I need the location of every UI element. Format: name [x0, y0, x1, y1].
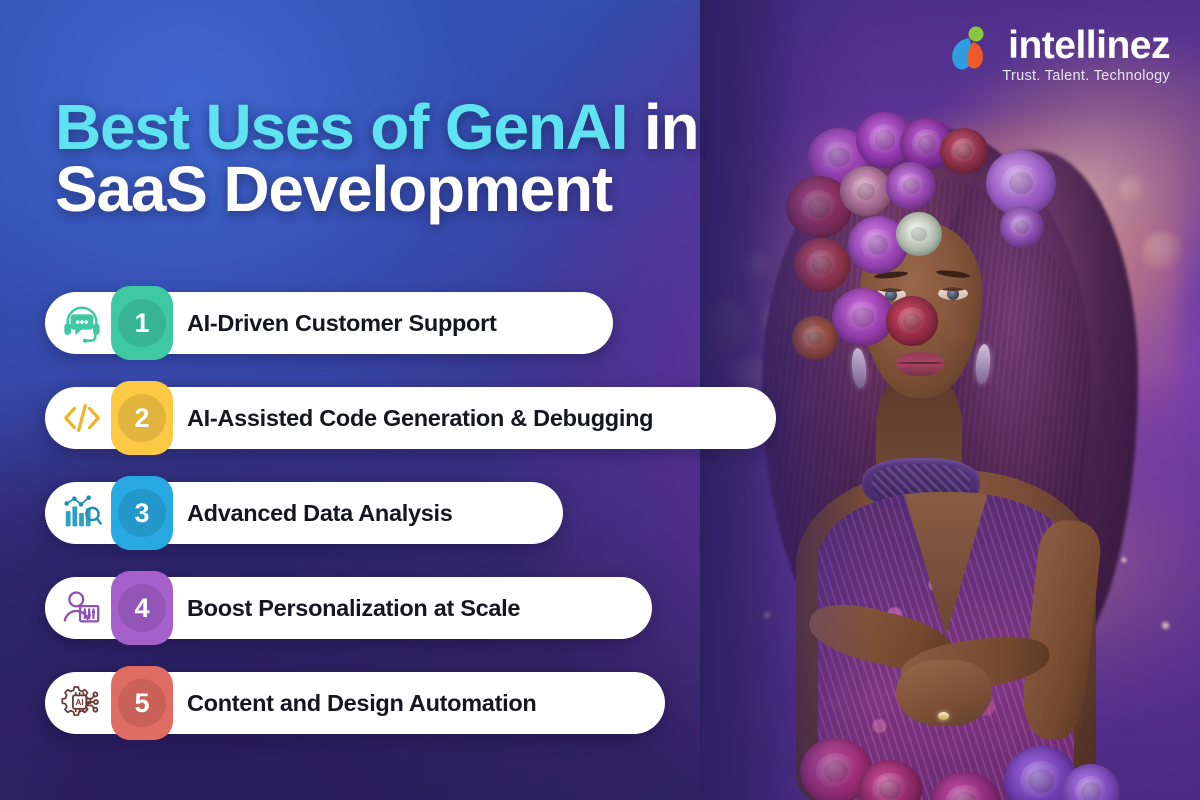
list-item-pill[interactable]: 3 Advanced Data Analysis	[45, 482, 563, 544]
list-item-number: 4	[134, 595, 149, 622]
list-item-number: 5	[134, 690, 149, 717]
rose-white	[896, 212, 942, 256]
light-spark	[1160, 620, 1171, 631]
list-item-number: 1	[134, 310, 149, 337]
rose	[1000, 206, 1044, 248]
bokeh-circle	[1142, 232, 1182, 272]
title-line-1: Best Uses of GenAI in	[55, 96, 698, 158]
eye	[938, 287, 968, 300]
rose	[930, 772, 1000, 800]
code-brackets-icon	[45, 387, 109, 449]
benefits-list: 1 AI-Driven Customer Support	[45, 292, 776, 734]
list-item-label: Content and Design Automation	[187, 690, 536, 717]
brand-logo[interactable]: intellinez Trust. Talent. Technology	[949, 26, 1170, 84]
list-item[interactable]: 1 AI-Driven Customer Support	[45, 292, 776, 354]
gear-ai-chip-icon: AI	[45, 672, 109, 734]
intellinez-logo-mark	[949, 26, 993, 74]
headset-chat-icon	[45, 292, 109, 354]
lip-line	[896, 362, 944, 364]
rose	[940, 128, 988, 174]
list-item-pill[interactable]: 1 AI-Driven Customer Support	[45, 292, 613, 354]
list-item-number: 2	[134, 405, 149, 432]
title-connector: in	[627, 91, 698, 163]
rose	[886, 296, 938, 346]
list-item-label: Advanced Data Analysis	[187, 500, 453, 527]
title-line-2: SaaS Development	[55, 158, 698, 220]
list-item-pill[interactable]: 2 AI-Assisted Code Generation & Debuggin…	[45, 387, 776, 449]
svg-text:AI: AI	[76, 698, 84, 707]
list-item-label: AI-Assisted Code Generation & Debugging	[187, 405, 653, 432]
page-title: Best Uses of GenAI in SaaS Development	[55, 96, 698, 220]
list-item-pill[interactable]: 4 Boost Personalization at Scale	[45, 577, 652, 639]
lips	[896, 352, 944, 376]
list-item-badge: 3	[111, 476, 173, 550]
list-item-label: AI-Driven Customer Support	[187, 310, 496, 337]
list-item-badge: 2	[111, 381, 173, 455]
list-item[interactable]: AI 5 Content and Design Automation	[45, 672, 776, 734]
list-item-badge: 1	[111, 286, 173, 360]
list-item-badge: 5	[111, 666, 173, 740]
brand-wordmark: intellinez Trust. Talent. Technology	[1002, 26, 1170, 84]
brand-tagline: Trust. Talent. Technology	[1002, 68, 1170, 84]
rose	[886, 162, 936, 210]
list-item-label: Boost Personalization at Scale	[187, 595, 520, 622]
cheek-highlight	[938, 316, 978, 346]
user-settings-icon	[45, 577, 109, 639]
list-item-number: 3	[134, 500, 149, 527]
list-item[interactable]: 4 Boost Personalization at Scale	[45, 577, 776, 639]
list-item-pill[interactable]: AI 5 Content and Design Automation	[45, 672, 665, 734]
brand-name: intellinez	[1008, 26, 1170, 65]
bar-chart-search-icon	[45, 482, 109, 544]
list-item-badge: 4	[111, 571, 173, 645]
list-item[interactable]: 2 AI-Assisted Code Generation & Debuggin…	[45, 387, 776, 449]
bokeh-circle	[1118, 176, 1146, 204]
list-item[interactable]: 3 Advanced Data Analysis	[45, 482, 776, 544]
infographic-canvas: intellinez Trust. Talent. Technology Bes…	[0, 0, 1200, 800]
light-spark	[1120, 556, 1128, 564]
